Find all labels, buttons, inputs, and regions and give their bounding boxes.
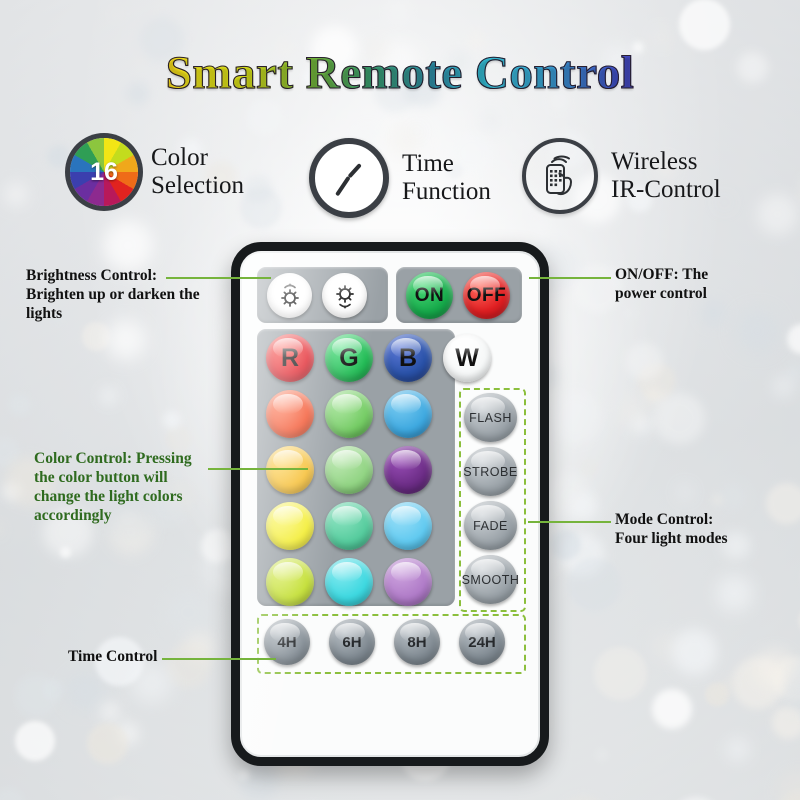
button-gloss (332, 562, 363, 582)
button-gloss (391, 562, 422, 582)
color-button-g-label: G (339, 344, 358, 373)
leader-line-mode (528, 521, 611, 523)
mode-button-smooth[interactable]: SMOOTH (464, 555, 517, 604)
dim-button[interactable] (322, 273, 367, 318)
color-swatch-3-1[interactable] (266, 502, 314, 550)
feature-time-function-label: Time Function (402, 150, 491, 206)
timer-button-4h-label: 4H (277, 634, 296, 651)
leader-line-time (162, 658, 276, 660)
color-button-w[interactable]: W (443, 334, 491, 382)
leader-line-brightness (166, 277, 271, 279)
leader-line-color (208, 468, 308, 470)
feature-color-selection: 16 Color Selection (70, 138, 244, 206)
annotation-color-control: Color Control: Pressing the color button… (34, 450, 234, 526)
brighten-button[interactable] (267, 273, 312, 318)
mode-button-strobe-label: STROBE (463, 465, 517, 479)
feature-wireless-ir: Wireless IR-Control (522, 138, 721, 214)
timer-button-24h[interactable]: 24H (459, 619, 505, 665)
color-swatch-1-2[interactable] (325, 390, 373, 438)
clock-icon (309, 138, 389, 218)
color-swatch-2-3[interactable] (384, 446, 432, 494)
mode-button-strobe[interactable]: STROBE (464, 447, 517, 496)
power-off-button[interactable]: OFF (463, 272, 510, 319)
button-gloss (391, 394, 422, 414)
color-swatch-3-3[interactable] (384, 502, 432, 550)
timer-button-24h-label: 24H (468, 634, 496, 651)
button-gloss (273, 506, 304, 526)
sun-up-icon (275, 281, 305, 311)
clock-minute-hand (335, 176, 351, 196)
leader-line-onoff (529, 277, 611, 279)
button-gloss (332, 450, 363, 470)
timer-button-8h[interactable]: 8H (394, 619, 440, 665)
timer-button-8h-label: 8H (407, 634, 426, 651)
button-gloss (391, 506, 422, 526)
wireless-remote-glyph (535, 151, 585, 201)
color-swatch-4-1[interactable] (266, 558, 314, 606)
clock-hour-hand (348, 163, 362, 178)
mode-button-flash[interactable]: FLASH (464, 393, 517, 442)
color-button-r[interactable]: R (266, 334, 314, 382)
mode-button-fade-label: FADE (473, 519, 508, 533)
power-on-label: ON (415, 285, 445, 307)
power-on-button[interactable]: ON (406, 272, 453, 319)
button-gloss (391, 450, 422, 470)
color-swatch-4-3[interactable] (384, 558, 432, 606)
color-button-r-label: R (281, 344, 299, 373)
feature-row: 16 Color Selection Time Function (0, 132, 800, 216)
color-wheel-icon: 16 (70, 138, 138, 206)
page-title: Smart Remote Control (0, 46, 800, 100)
color-button-g[interactable]: G (325, 334, 373, 382)
remote-control-device: ON OFF R G B W FLASH STROBE (231, 242, 549, 766)
wireless-remote-icon (522, 138, 598, 214)
annotation-on-off: ON/OFF: The power control (615, 266, 795, 304)
button-gloss (273, 394, 304, 414)
color-swatch-4-2[interactable] (325, 558, 373, 606)
button-gloss (332, 394, 363, 414)
color-button-b-label: B (399, 344, 417, 373)
color-swatch-1-3[interactable] (384, 390, 432, 438)
color-button-w-label: W (455, 344, 479, 373)
power-off-label: OFF (467, 285, 507, 307)
color-swatch-3-2[interactable] (325, 502, 373, 550)
button-gloss (273, 562, 304, 582)
timer-button-6h-label: 6H (342, 634, 361, 651)
color-swatch-2-1[interactable] (266, 446, 314, 494)
annotation-mode-control: Mode Control: Four light modes (615, 511, 800, 549)
feature-time-function: Time Function (309, 138, 491, 218)
feature-wireless-ir-label: Wireless IR-Control (611, 148, 721, 204)
color-button-b[interactable]: B (384, 334, 432, 382)
timer-button-6h[interactable]: 6H (329, 619, 375, 665)
color-swatch-1-1[interactable] (266, 390, 314, 438)
feature-color-selection-label: Color Selection (151, 144, 244, 200)
mode-button-fade[interactable]: FADE (464, 501, 517, 550)
annotation-brightness-control: Brightness Control: Brighten up or darke… (26, 267, 236, 324)
sun-down-icon (330, 281, 360, 311)
button-gloss (332, 506, 363, 526)
color-count-badge: 16 (70, 138, 138, 206)
button-gloss (273, 450, 304, 470)
mode-button-flash-label: FLASH (469, 411, 512, 425)
color-swatch-2-2[interactable] (325, 446, 373, 494)
mode-button-smooth-label: SMOOTH (462, 573, 520, 587)
